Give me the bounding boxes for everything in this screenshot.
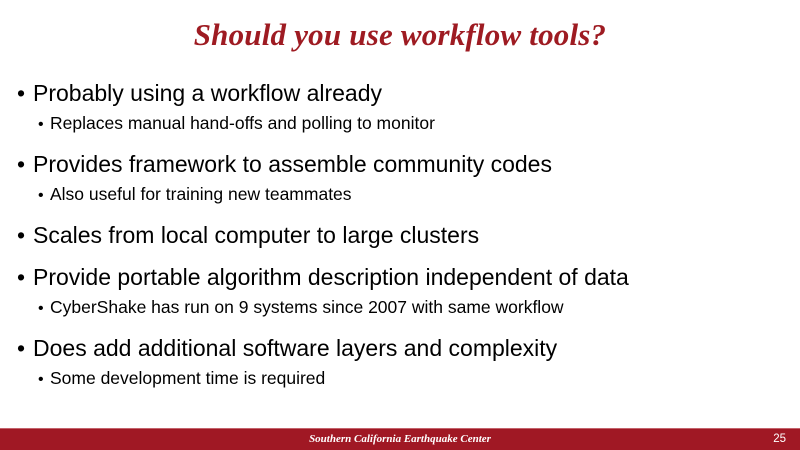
sub-bullet-point-icon: •: [38, 112, 50, 138]
sub-bullet-point-icon: •: [38, 296, 50, 322]
list-item: • Scales from local computer to large cl…: [0, 220, 800, 251]
list-item-label: Does add additional software layers and …: [33, 333, 800, 364]
list-item: • Probably using a workflow already: [0, 78, 800, 109]
slide-footer: Southern California Earthquake Center 25: [0, 428, 800, 450]
presentation-slide: Should you use workflow tools? • Probabl…: [0, 0, 800, 450]
list-item-label: Provides framework to assemble community…: [33, 149, 800, 180]
list-item-label: Scales from local computer to large clus…: [33, 220, 800, 251]
list-item-label: Provide portable algorithm description i…: [33, 262, 800, 293]
sub-list-item: • Also useful for training new teammates: [0, 181, 800, 209]
slide-page-number: 25: [773, 429, 786, 450]
bullet-point-icon: •: [17, 262, 33, 293]
sub-list-item-label: CyberShake has run on 9 systems since 20…: [50, 294, 800, 320]
page-title: Should you use workflow tools?: [0, 17, 800, 53]
sub-list-item: • Replaces manual hand-offs and polling …: [0, 110, 800, 138]
sub-bullet-point-icon: •: [38, 183, 50, 209]
footer-organization-label: Southern California Earthquake Center: [0, 429, 800, 450]
bullet-group: • Does add additional software layers an…: [0, 333, 800, 393]
bullet-point-icon: •: [17, 220, 33, 251]
bullet-list: • Probably using a workflow already • Re…: [0, 78, 800, 393]
bullet-group: • Provides framework to assemble communi…: [0, 149, 800, 209]
list-item-label: Probably using a workflow already: [33, 78, 800, 109]
bullet-point-icon: •: [17, 78, 33, 109]
bullet-point-icon: •: [17, 333, 33, 364]
list-item: • Provides framework to assemble communi…: [0, 149, 800, 180]
list-item: • Provide portable algorithm description…: [0, 262, 800, 293]
sub-list-item: • CyberShake has run on 9 systems since …: [0, 294, 800, 322]
sub-bullet-point-icon: •: [38, 367, 50, 393]
list-item: • Does add additional software layers an…: [0, 333, 800, 364]
sub-list-item: • Some development time is required: [0, 365, 800, 393]
sub-list-item-label: Also useful for training new teammates: [50, 181, 800, 207]
sub-list-item-label: Some development time is required: [50, 365, 800, 391]
bullet-point-icon: •: [17, 149, 33, 180]
bullet-group: • Scales from local computer to large cl…: [0, 220, 800, 251]
sub-list-item-label: Replaces manual hand-offs and polling to…: [50, 110, 800, 136]
bullet-group: • Probably using a workflow already • Re…: [0, 78, 800, 138]
bullet-group: • Provide portable algorithm description…: [0, 262, 800, 322]
